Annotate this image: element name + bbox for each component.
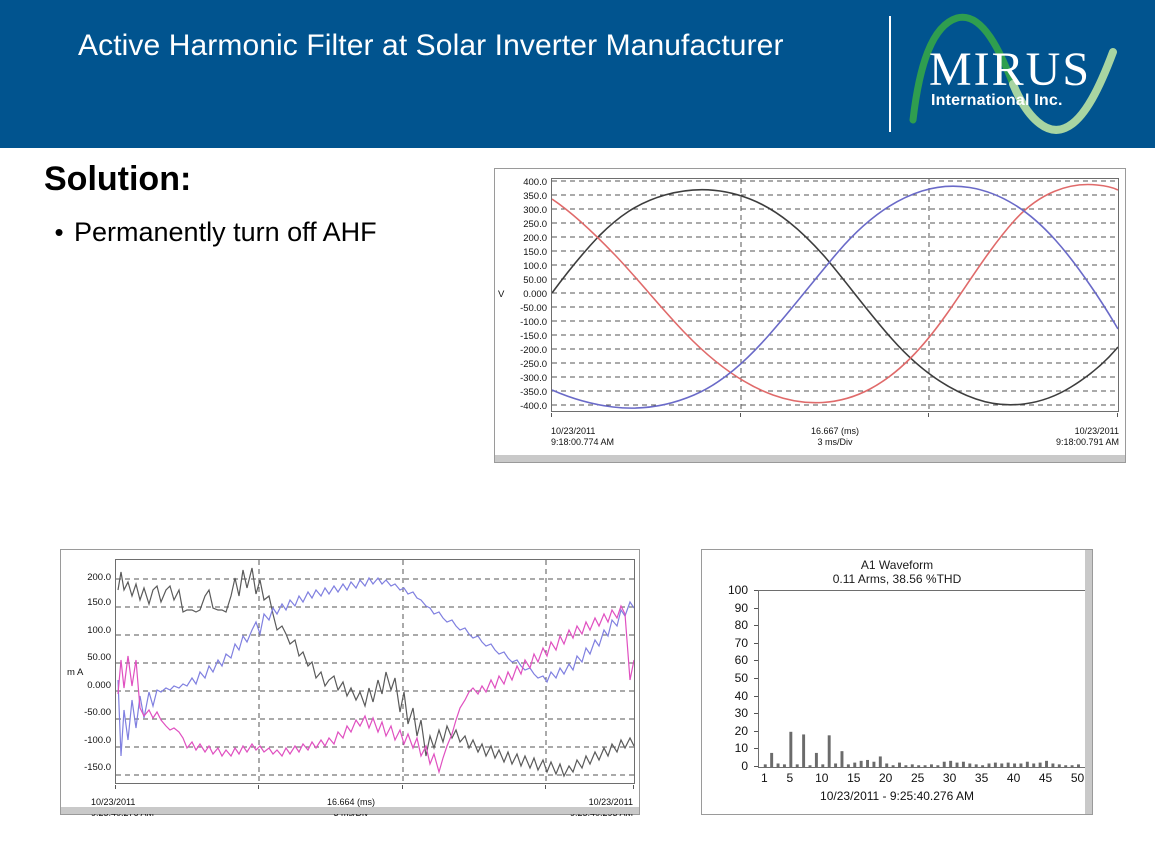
- y-tick-label: 70: [722, 637, 748, 649]
- x-tick-label: 20: [876, 772, 896, 784]
- harmonic-footer-timestamp: 10/23/2011 - 9:25:40.276 AM: [702, 790, 1092, 803]
- x-tick-label: 1: [754, 772, 774, 784]
- y-tick-label: -50.00: [503, 304, 547, 314]
- current-traces: [116, 560, 634, 783]
- y-tick-label: 150.0: [67, 598, 111, 608]
- y-tick-label: 200.0: [503, 234, 547, 244]
- y-tick-label: -350.0: [503, 388, 547, 398]
- y-tick-label: -400.0: [503, 402, 547, 412]
- y-tick-label: -300.0: [503, 374, 547, 384]
- y-tick-label: 90: [722, 602, 748, 614]
- voltage-footer-center: 16.667 (ms) 3 ms/Div: [735, 426, 935, 448]
- bullet-list-item: • Permanently turn off AHF: [44, 212, 384, 252]
- y-tick-label: 0.000: [67, 681, 111, 691]
- voltage-footer-left-date: 10/23/2011: [551, 426, 614, 437]
- y-tick-label: 100.0: [67, 626, 111, 636]
- y-tick-label: 100: [722, 584, 748, 596]
- harmonic-title-line2: 0.11 Arms, 38.56 %THD: [702, 572, 1092, 586]
- mirus-logo: MIRUS International Inc.: [905, 8, 1130, 140]
- harmonic-title-line1: A1 Waveform: [702, 558, 1092, 572]
- y-tick-label: 60: [722, 654, 748, 666]
- y-tick-label: 0.000: [503, 290, 547, 300]
- harmonic-spectrum-chart: A1 Waveform 0.11 Arms, 38.56 %THD 010203…: [701, 549, 1093, 815]
- x-tick-label: 25: [908, 772, 928, 784]
- y-tick-label: 50: [722, 672, 748, 684]
- harmonic-plot-area: [758, 590, 1086, 768]
- voltage-footer-right-date: 10/23/2011: [965, 426, 1119, 437]
- y-tick-label: -150.0: [67, 763, 111, 773]
- x-tick-label: 35: [972, 772, 992, 784]
- panel-bottom-scrollbar[interactable]: [495, 455, 1125, 462]
- solution-heading: Solution:: [44, 160, 191, 199]
- voltage-footer-left-time: 9:18:00.774 AM: [551, 437, 614, 448]
- panel-side-scrollbar[interactable]: [1085, 550, 1092, 814]
- current-x-ticks: [115, 785, 635, 791]
- x-tick-label: 40: [1004, 772, 1024, 784]
- y-tick-label: 40: [722, 690, 748, 702]
- y-tick-label: -200.0: [503, 346, 547, 356]
- y-tick-label: 300.0: [503, 206, 547, 216]
- y-tick-label: 400.0: [503, 178, 547, 188]
- y-tick-label: -250.0: [503, 360, 547, 370]
- logo-subtitle: International Inc.: [931, 93, 1063, 109]
- y-tick-label: 50.00: [503, 276, 547, 286]
- voltage-footer-right: 10/23/2011 9:18:00.791 AM: [965, 426, 1119, 448]
- y-tick-label: 100.0: [503, 262, 547, 272]
- y-tick-label: -100.0: [67, 736, 111, 746]
- current-waveform-chart: 200.0 150.0 100.0 50.00 0.000 -50.00 -10…: [60, 549, 640, 815]
- y-tick-label: 150.0: [503, 248, 547, 258]
- x-tick-label: 10: [812, 772, 832, 784]
- voltage-traces: [552, 179, 1118, 411]
- y-tick-label: 200.0: [67, 573, 111, 583]
- current-plot-area: [115, 559, 635, 784]
- harmonic-bars: [759, 591, 1085, 767]
- x-tick-label: 45: [1036, 772, 1056, 784]
- panel-bottom-scrollbar[interactable]: [61, 807, 639, 814]
- x-tick-label: 30: [940, 772, 960, 784]
- bullet-marker-icon: •: [44, 212, 74, 252]
- page-title: Active Harmonic Filter at Solar Inverter…: [78, 23, 868, 68]
- y-tick-label: 20: [722, 725, 748, 737]
- x-tick-label: 15: [844, 772, 864, 784]
- slide-header: Active Harmonic Filter at Solar Inverter…: [0, 0, 1155, 148]
- voltage-plot-area: [551, 178, 1119, 412]
- y-tick-label: 10: [722, 742, 748, 754]
- voltage-footer-span: 16.667 (ms): [735, 426, 935, 437]
- y-tick-label: 350.0: [503, 192, 547, 202]
- y-tick-label: 250.0: [503, 220, 547, 230]
- header-divider: [889, 16, 891, 132]
- y-tick-label: 0: [722, 760, 748, 772]
- x-tick-label: 5: [780, 772, 800, 784]
- bullet-item-label: Permanently turn off AHF: [74, 212, 377, 252]
- voltage-footer-right-time: 9:18:00.791 AM: [965, 437, 1119, 448]
- y-tick-label: -100.0: [503, 318, 547, 328]
- voltage-footer-div: 3 ms/Div: [735, 437, 935, 448]
- y-tick-label: 80: [722, 619, 748, 631]
- harmonic-chart-title: A1 Waveform 0.11 Arms, 38.56 %THD: [702, 558, 1092, 586]
- logo-wordmark: MIRUS: [929, 46, 1091, 94]
- y-axis-unit-label: V: [498, 290, 504, 300]
- y-tick-label: 30: [722, 707, 748, 719]
- y-tick-label: -150.0: [503, 332, 547, 342]
- voltage-footer-left: 10/23/2011 9:18:00.774 AM: [551, 426, 614, 448]
- y-tick-label: -50.00: [67, 708, 111, 718]
- voltage-x-ticks: [551, 413, 1119, 419]
- y-tick-label: 50.00: [67, 653, 111, 663]
- voltage-waveform-chart: 400.0 350.0 300.0 250.0 200.0 150.0 100.…: [494, 168, 1126, 463]
- y-axis-unit-label: m A: [67, 668, 83, 678]
